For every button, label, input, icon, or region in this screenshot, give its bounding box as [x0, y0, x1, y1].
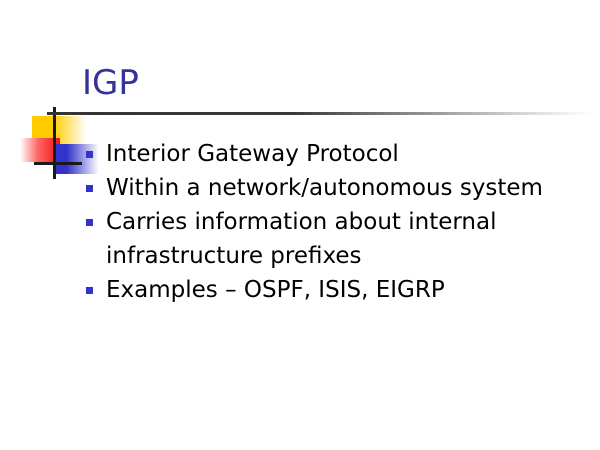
square-bullet-icon: [86, 151, 93, 158]
list-item: Carries information about internal infra…: [84, 205, 584, 273]
list-item: Examples – OSPF, ISIS, EIGRP: [84, 273, 584, 307]
bullet-list: Interior Gateway Protocol Within a netwo…: [84, 137, 584, 307]
decoration-vertical-line: [53, 107, 56, 179]
list-item: Within a network/autonomous system: [84, 171, 584, 205]
title-divider: [47, 112, 595, 115]
list-item-label: Interior Gateway Protocol: [106, 137, 584, 171]
decoration-yellow-square: [32, 116, 86, 144]
slide: IGP Interior Gateway Protocol Within a n…: [0, 0, 600, 450]
list-item-label: Within a network/autonomous system: [106, 171, 584, 205]
square-bullet-icon: [86, 287, 93, 294]
list-item: Interior Gateway Protocol: [84, 137, 584, 171]
decoration-horizontal-line: [34, 162, 82, 165]
square-bullet-icon: [86, 219, 93, 226]
list-item-label: Carries information about internal infra…: [106, 205, 584, 273]
square-bullet-icon: [86, 185, 93, 192]
page-title: IGP: [82, 63, 139, 103]
list-item-label: Examples – OSPF, ISIS, EIGRP: [106, 273, 584, 307]
decoration-red-square: [20, 138, 60, 162]
